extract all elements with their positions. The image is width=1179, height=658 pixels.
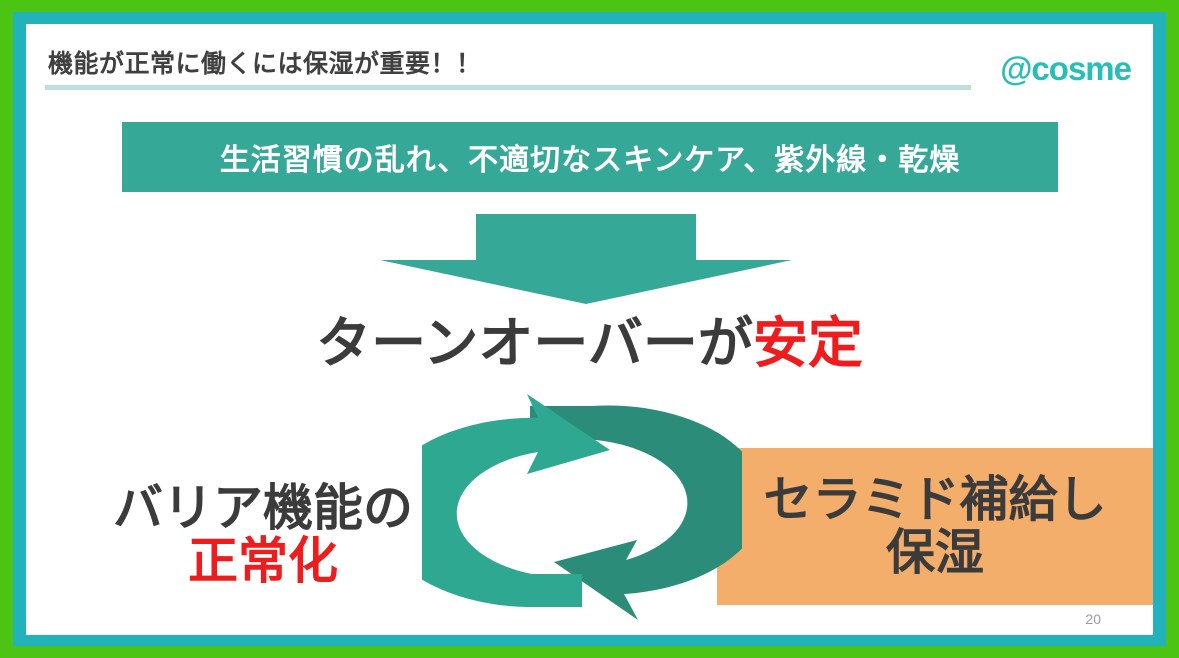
ceramide-box: セラミド補給し 保湿 (717, 448, 1153, 605)
page-title: 機能が正常に働くには保湿が重要！！ (48, 44, 482, 80)
cycle-arrows-icon (422, 392, 742, 622)
ceramide-line-1: セラミド補給し (763, 474, 1106, 527)
page-number: 20 (1085, 611, 1101, 627)
turnover-prefix: ターンオーバーが (316, 312, 753, 374)
slide: 機能が正常に働くには保湿が重要！！ @cosme 生活習慣の乱れ、不適切なスキン… (0, 0, 1179, 658)
barrier-text-block: バリア機能の 正常化 (78, 482, 448, 587)
barrier-line-2: 正常化 (78, 535, 448, 588)
cosme-logo: @cosme (1000, 50, 1131, 88)
ceramide-line-2: 保湿 (886, 527, 984, 580)
slide-canvas: 機能が正常に働くには保湿が重要！！ @cosme 生活習慣の乱れ、不適切なスキン… (26, 24, 1153, 635)
causes-banner-text: 生活習慣の乱れ、不適切なスキンケア、紫外線・乾燥 (220, 135, 960, 179)
barrier-line-1: バリア機能の (78, 482, 448, 535)
turnover-headline: ターンオーバーが安定 (26, 298, 1153, 378)
turnover-accent: 安定 (753, 312, 863, 374)
causes-banner: 生活習慣の乱れ、不適切なスキンケア、紫外線・乾燥 (122, 122, 1058, 192)
down-arrow (380, 214, 792, 304)
title-underline (45, 85, 971, 90)
